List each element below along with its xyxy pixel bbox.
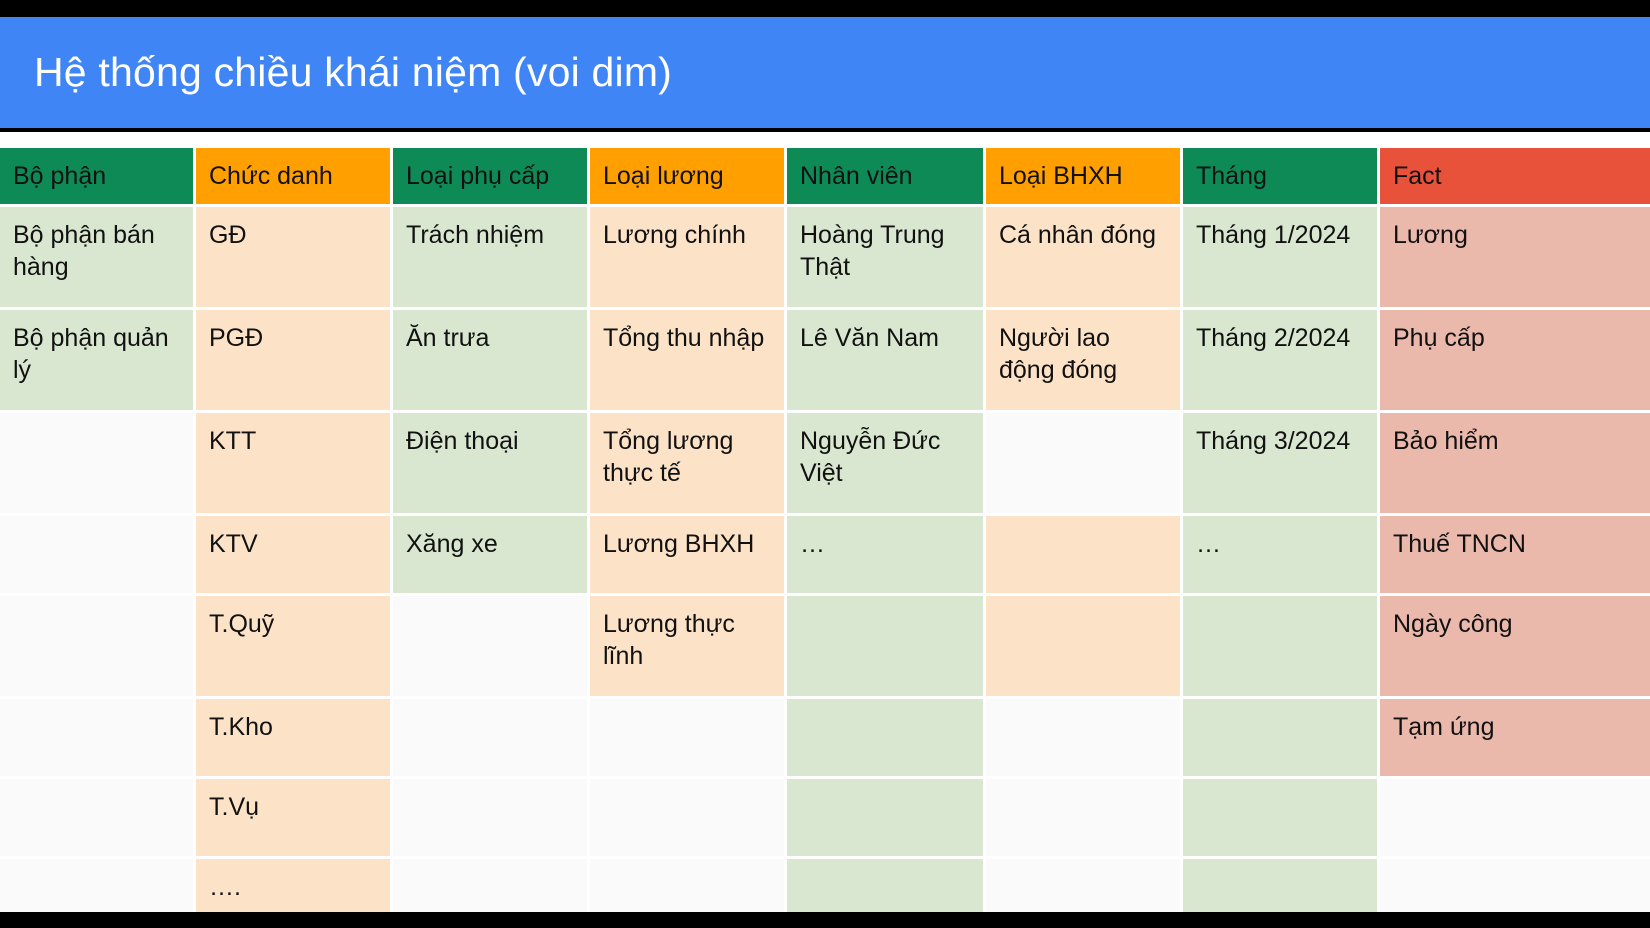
cell-nhan-vien: Lê Văn Nam	[787, 310, 983, 410]
cell-thang: Tháng 2/2024	[1183, 310, 1377, 410]
cell-loai-luong: Tổng lương thực tế	[590, 413, 784, 513]
cell-thang	[1183, 596, 1377, 696]
cell-nhan-vien	[787, 859, 983, 912]
cell-loai-phu-cap	[393, 699, 587, 776]
column-header-nhan-vien[interactable]: Nhân viên	[787, 148, 983, 204]
cell-chuc-danh: PGĐ	[196, 310, 390, 410]
cell-fact: Thuế TNCN	[1380, 516, 1650, 593]
cell-loai-luong: Lương BHXH	[590, 516, 784, 593]
cell-bo-phan	[0, 596, 193, 696]
cell-thang: Tháng 1/2024	[1183, 207, 1377, 307]
cell-loai-bhxh: Người lao động đóng	[986, 310, 1180, 410]
cell-loai-bhxh	[986, 859, 1180, 912]
column-header-chuc-danh[interactable]: Chức danh	[196, 148, 390, 204]
cell-loai-luong: Tổng thu nhập	[590, 310, 784, 410]
cell-chuc-danh: ….	[196, 859, 390, 912]
cell-bo-phan: Bộ phận bán hàng	[0, 207, 193, 307]
cell-nhan-vien	[787, 699, 983, 776]
cell-thang	[1183, 699, 1377, 776]
cell-loai-phu-cap: Xăng xe	[393, 516, 587, 593]
cell-loai-phu-cap: Điện thoại	[393, 413, 587, 513]
cell-chuc-danh: KTT	[196, 413, 390, 513]
cell-bo-phan	[0, 779, 193, 856]
cell-thang: Tháng 3/2024	[1183, 413, 1377, 513]
column-header-loai-phu-cap[interactable]: Loại phụ cấp	[393, 148, 587, 204]
cell-loai-bhxh	[986, 779, 1180, 856]
table-row: Bộ phận bán hàng GĐ Trách nhiệm Lương ch…	[0, 207, 1650, 307]
cell-loai-luong: Lương thực lĩnh	[590, 596, 784, 696]
cell-loai-luong	[590, 699, 784, 776]
cell-loai-bhxh	[986, 413, 1180, 513]
cell-thang: …	[1183, 516, 1377, 593]
table-row: T.Vụ	[0, 779, 1650, 856]
cell-nhan-vien	[787, 596, 983, 696]
dimension-table: Bộ phận Chức danh Loại phụ cấp Loại lươn…	[0, 145, 1650, 912]
cell-loai-bhxh	[986, 596, 1180, 696]
cell-thang	[1183, 779, 1377, 856]
cell-bo-phan	[0, 699, 193, 776]
cell-fact: Bảo hiểm	[1380, 413, 1650, 513]
table-row: KTT Điện thoại Tổng lương thực tế Nguyễn…	[0, 413, 1650, 513]
cell-chuc-danh: T.Kho	[196, 699, 390, 776]
cell-nhan-vien: …	[787, 516, 983, 593]
table-row: ….	[0, 859, 1650, 912]
column-header-loai-luong[interactable]: Loại lương	[590, 148, 784, 204]
cell-nhan-vien: Nguyễn Đức Việt	[787, 413, 983, 513]
cell-bo-phan	[0, 413, 193, 513]
cell-loai-bhxh	[986, 516, 1180, 593]
cell-loai-phu-cap	[393, 779, 587, 856]
dimension-table-container: Bộ phận Chức danh Loại phụ cấp Loại lươn…	[0, 132, 1650, 912]
cell-chuc-danh: T.Vụ	[196, 779, 390, 856]
column-header-loai-bhxh[interactable]: Loại BHXH	[986, 148, 1180, 204]
cell-fact: Phụ cấp	[1380, 310, 1650, 410]
cell-loai-luong	[590, 779, 784, 856]
table-row: T.Kho Tạm ứng	[0, 699, 1650, 776]
cell-chuc-danh: GĐ	[196, 207, 390, 307]
table-header-row: Bộ phận Chức danh Loại phụ cấp Loại lươn…	[0, 148, 1650, 204]
cell-nhan-vien	[787, 779, 983, 856]
title-banner: Hệ thống chiều khái niệm (voi dim)	[0, 17, 1650, 128]
cell-loai-phu-cap: Trách nhiệm	[393, 207, 587, 307]
cell-bo-phan: Bộ phận quản lý	[0, 310, 193, 410]
slide: Hệ thống chiều khái niệm (voi dim) Bộ ph…	[0, 0, 1650, 928]
cell-fact: Tạm ứng	[1380, 699, 1650, 776]
cell-loai-phu-cap	[393, 859, 587, 912]
cell-fact: Ngày công	[1380, 596, 1650, 696]
cell-loai-phu-cap	[393, 596, 587, 696]
cell-fact	[1380, 779, 1650, 856]
cell-loai-bhxh: Cá nhân đóng	[986, 207, 1180, 307]
table-row: T.Quỹ Lương thực lĩnh Ngày công	[0, 596, 1650, 696]
column-header-fact[interactable]: Fact	[1380, 148, 1650, 204]
cell-loai-phu-cap: Ăn trưa	[393, 310, 587, 410]
cell-bo-phan	[0, 859, 193, 912]
cell-fact: Lương	[1380, 207, 1650, 307]
column-header-bo-phan[interactable]: Bộ phận	[0, 148, 193, 204]
table-row: KTV Xăng xe Lương BHXH … … Thuế TNCN	[0, 516, 1650, 593]
cell-loai-bhxh	[986, 699, 1180, 776]
cell-thang	[1183, 859, 1377, 912]
cell-bo-phan	[0, 516, 193, 593]
column-header-thang[interactable]: Tháng	[1183, 148, 1377, 204]
cell-chuc-danh: T.Quỹ	[196, 596, 390, 696]
cell-loai-luong	[590, 859, 784, 912]
table-row: Bộ phận quản lý PGĐ Ăn trưa Tổng thu nhậ…	[0, 310, 1650, 410]
cell-nhan-vien: Hoàng Trung Thật	[787, 207, 983, 307]
page-title: Hệ thống chiều khái niệm (voi dim)	[0, 50, 672, 95]
cell-chuc-danh: KTV	[196, 516, 390, 593]
cell-fact	[1380, 859, 1650, 912]
cell-loai-luong: Lương chính	[590, 207, 784, 307]
